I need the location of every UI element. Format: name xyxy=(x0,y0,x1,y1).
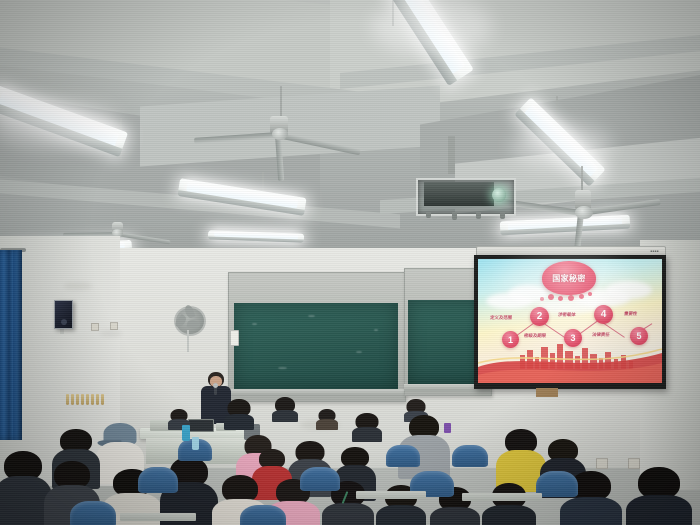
slide-node-label-1: 定义及范围 xyxy=(490,315,513,321)
projection-screen-border: 国家秘密 1 2 3 xyxy=(474,255,666,389)
green-chalkboard[interactable] xyxy=(234,303,398,389)
chalk-tray-box[interactable] xyxy=(230,330,239,346)
student-desk[interactable] xyxy=(120,513,196,521)
slide-title-bubble: 国家秘密 xyxy=(542,261,596,295)
slide-node-number: 4 xyxy=(601,309,607,320)
slide-node-label-4: 法律责任 xyxy=(592,332,610,338)
water-bottle[interactable] xyxy=(182,425,190,441)
mobile-phone[interactable] xyxy=(444,423,451,433)
ceiling-fan xyxy=(200,86,380,156)
wall-switch[interactable] xyxy=(91,323,99,331)
audience-member xyxy=(316,409,338,429)
ceiling-projector xyxy=(412,160,522,226)
projector-cage-foot xyxy=(500,212,505,219)
classroom-chair[interactable] xyxy=(70,501,116,525)
projected-slide: 国家秘密 1 2 3 xyxy=(478,259,662,383)
classroom-chair[interactable] xyxy=(386,445,420,467)
slide-node-label-5: 重要性 xyxy=(624,311,638,317)
red-ribbon-swoosh xyxy=(478,341,662,383)
slide-node-number: 2 xyxy=(537,311,543,322)
audience-member xyxy=(626,467,692,525)
wall-mounted-fan[interactable] xyxy=(174,306,202,332)
classroom-chair[interactable] xyxy=(138,467,178,493)
audience-member xyxy=(272,397,298,421)
microphone-head xyxy=(213,383,218,388)
classroom-chair[interactable] xyxy=(240,505,286,525)
audience-member xyxy=(482,483,536,525)
projector-mount-pole xyxy=(448,136,455,174)
water-bottle[interactable] xyxy=(192,437,199,450)
projector-cage-foot xyxy=(476,212,481,219)
student-desk[interactable] xyxy=(356,491,426,499)
ceiling-fan xyxy=(495,166,685,236)
slide-title: 国家秘密 xyxy=(552,273,586,284)
audience-member xyxy=(352,413,382,441)
audience-member xyxy=(224,399,254,429)
slide-node-2: 2 xyxy=(530,307,549,326)
screen-case-label: ■■■■ xyxy=(651,249,659,253)
projection-screen-assembly: ■■■■ 国家秘密 xyxy=(466,246,666,406)
classroom-photo-scene: ■■■■ 国家秘密 xyxy=(0,0,700,525)
classroom-chair[interactable] xyxy=(452,445,488,467)
wall-speaker xyxy=(54,300,73,329)
projector-cage-foot xyxy=(426,212,431,218)
slide-node-4: 4 xyxy=(594,305,613,324)
wall-switch[interactable] xyxy=(110,322,118,330)
student-desk[interactable] xyxy=(462,493,542,501)
projector-lens xyxy=(492,188,506,202)
projector-body xyxy=(424,182,494,206)
classroom-chair[interactable] xyxy=(536,471,578,497)
slide-node-label-3: 涉密载体 xyxy=(558,312,576,318)
audience-area xyxy=(0,395,700,525)
classroom-chair[interactable] xyxy=(300,467,340,491)
projector-cage-foot xyxy=(452,212,457,220)
light-hanger-rod xyxy=(392,0,394,26)
